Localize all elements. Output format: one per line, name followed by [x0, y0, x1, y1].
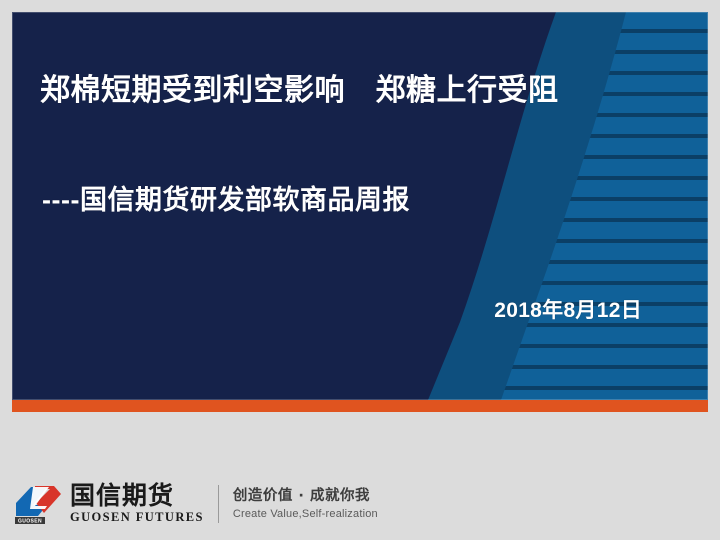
svg-text:GUOSEN: GUOSEN: [18, 519, 42, 525]
company-name-block: 国信期货 GUOSEN FUTURES: [70, 483, 204, 525]
logo-divider: [218, 485, 219, 523]
guosen-diamond-logo-icon: GUOSEN: [14, 483, 64, 525]
decorative-blue-stripes-graphic: [368, 12, 708, 400]
footer-logo-lockup: GUOSEN 国信期货 GUOSEN FUTURES 创造价值 · 成就你我 C…: [14, 478, 378, 530]
tagline-block: 创造价值 · 成就你我 Create Value,Self-realizatio…: [233, 487, 378, 521]
orange-accent-bar: [12, 400, 708, 412]
title-panel: [12, 12, 708, 400]
company-name-cn: 国信期货: [70, 483, 174, 509]
tagline-cn: 创造价值 · 成就你我: [233, 487, 378, 505]
presentation-slide: 郑棉短期受到利空影响 郑糖上行受阻 ----国信期货研发部软商品周报 2018年…: [0, 0, 720, 540]
company-name-en: GUOSEN FUTURES: [70, 510, 204, 525]
tagline-en: Create Value,Self-realization: [233, 507, 378, 521]
